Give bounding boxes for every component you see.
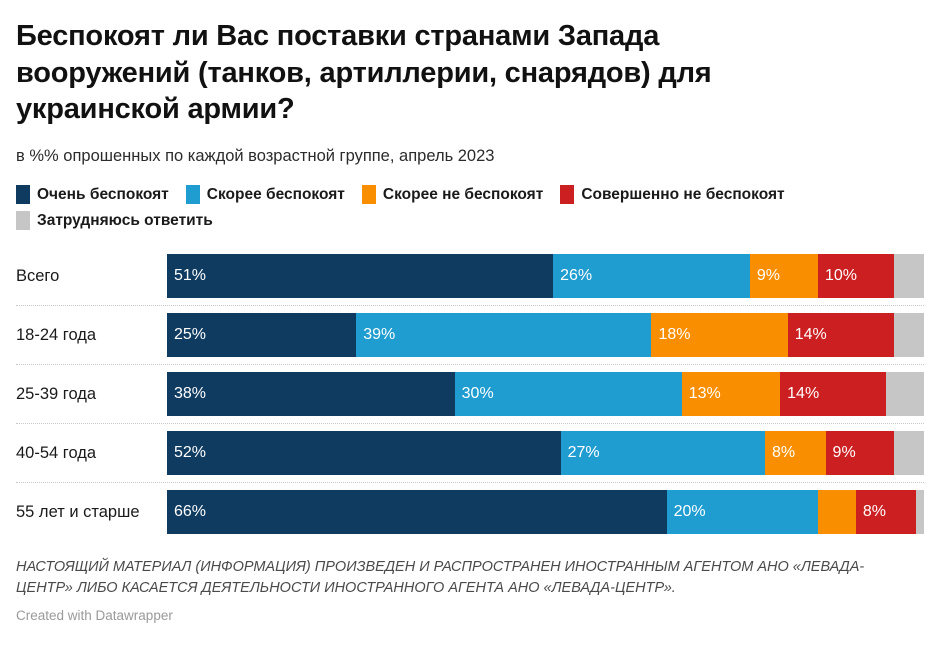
legend-item[interactable]: Скорее не беспокоят: [362, 185, 543, 204]
chart-legend: Очень беспокоятСкорее беспокоятСкорее не…: [16, 185, 916, 237]
legend-swatch-icon: [16, 211, 30, 230]
bar-segment[interactable]: 27%: [561, 431, 765, 475]
legend-item-label: Очень беспокоят: [37, 187, 169, 203]
bar-segment[interactable]: 4%: [894, 431, 924, 475]
foreign-agent-disclaimer: НАСТОЯЩИЙ МАТЕРИАЛ (ИНФОРМАЦИЯ) ПРОИЗВЕД…: [16, 557, 916, 598]
legend-swatch-icon: [560, 185, 574, 204]
chart-row-label: 25-39 года: [16, 385, 167, 404]
bar-segment[interactable]: 52%: [167, 431, 561, 475]
bar-segment[interactable]: 18%: [651, 313, 787, 357]
bar-segment-value: 39%: [363, 327, 395, 343]
bar-segment[interactable]: 8%: [856, 490, 917, 534]
bar-segment-value: 66%: [174, 504, 206, 520]
bar-segment[interactable]: 39%: [356, 313, 651, 357]
chart-row: 55 лет и старше66%20%5%8%1%: [16, 482, 924, 541]
chart-row-label: 40-54 года: [16, 444, 167, 463]
bar-segment[interactable]: 66%: [167, 490, 667, 534]
bar-segment-value: 10%: [825, 268, 857, 284]
chart-page: Беспокоят ли Вас поставки странами Запад…: [0, 0, 940, 669]
bar-segment[interactable]: 20%: [667, 490, 818, 534]
legend-item[interactable]: Очень беспокоят: [16, 185, 169, 204]
bar-segment[interactable]: 8%: [765, 431, 826, 475]
bar-segment[interactable]: 51%: [167, 254, 553, 298]
chart-footer: НАСТОЯЩИЙ МАТЕРИАЛ (ИНФОРМАЦИЯ) ПРОИЗВЕД…: [16, 557, 924, 623]
legend-swatch-icon: [16, 185, 30, 204]
datawrapper-credit: Created with Datawrapper: [16, 609, 924, 623]
chart-row-label: Всего: [16, 267, 167, 286]
bar-segment-value: 8%: [863, 504, 886, 520]
chart-row: 18-24 года25%39%18%14%4%: [16, 305, 924, 364]
legend-item[interactable]: Скорее беспокоят: [186, 185, 345, 204]
bar-segment[interactable]: 14%: [788, 313, 894, 357]
bar-segment[interactable]: 4%: [894, 313, 924, 357]
stacked-bar: 25%39%18%14%4%: [167, 313, 924, 357]
stacked-bar: 52%27%8%9%4%: [167, 431, 924, 475]
bar-segment-value: 27%: [568, 445, 600, 461]
stacked-bar: 38%30%13%14%5%: [167, 372, 924, 416]
bar-segment-value: 13%: [689, 386, 721, 402]
chart-row-label: 18-24 года: [16, 326, 167, 345]
legend-item[interactable]: Совершенно не беспокоят: [560, 185, 784, 204]
bar-segment-value: 14%: [795, 327, 827, 343]
stacked-bar: 66%20%5%8%1%: [167, 490, 924, 534]
bar-segment-value: 38%: [174, 386, 206, 402]
bar-segment-value: 20%: [674, 504, 706, 520]
bar-segment-value: 52%: [174, 445, 206, 461]
legend-item-label: Скорее беспокоят: [207, 187, 345, 203]
stacked-bar: 51%26%9%10%4%: [167, 254, 924, 298]
bar-segment[interactable]: 38%: [167, 372, 455, 416]
bar-segment[interactable]: 10%: [818, 254, 894, 298]
bar-segment-value: 51%: [174, 268, 206, 284]
stacked-bar-chart: Всего51%26%9%10%4%18-24 года25%39%18%14%…: [16, 247, 924, 541]
bar-segment[interactable]: 4%: [894, 254, 924, 298]
bar-segment[interactable]: 1%: [916, 490, 924, 534]
bar-segment[interactable]: 13%: [682, 372, 780, 416]
chart-row: 25-39 года38%30%13%14%5%: [16, 364, 924, 423]
bar-segment[interactable]: 26%: [553, 254, 750, 298]
bar-segment-value: 9%: [833, 445, 856, 461]
page-title: Беспокоят ли Вас поставки странами Запад…: [16, 18, 776, 128]
bar-segment[interactable]: 5%: [818, 490, 856, 534]
bar-segment-value: 26%: [560, 268, 592, 284]
legend-item[interactable]: Затрудняюсь ответить: [16, 211, 213, 230]
chart-row: 40-54 года52%27%8%9%4%: [16, 423, 924, 482]
legend-item-label: Затрудняюсь ответить: [37, 213, 213, 229]
legend-swatch-icon: [186, 185, 200, 204]
chart-subtitle: в %% опрошенных по каждой возрастной гру…: [16, 146, 924, 167]
bar-segment-value: 18%: [658, 327, 690, 343]
legend-item-label: Скорее не беспокоят: [383, 187, 543, 203]
bar-segment-value: 8%: [772, 445, 795, 461]
bar-segment[interactable]: 9%: [826, 431, 894, 475]
bar-segment-value: 9%: [757, 268, 780, 284]
bar-segment[interactable]: 5%: [886, 372, 924, 416]
legend-swatch-icon: [362, 185, 376, 204]
bar-segment[interactable]: 25%: [167, 313, 356, 357]
legend-item-label: Совершенно не беспокоят: [581, 187, 784, 203]
bar-segment-value: 25%: [174, 327, 206, 343]
bar-segment-value: 14%: [787, 386, 819, 402]
chart-row-label: 55 лет и старше: [16, 503, 167, 522]
bar-segment[interactable]: 9%: [750, 254, 818, 298]
chart-row: Всего51%26%9%10%4%: [16, 247, 924, 305]
bar-segment[interactable]: 14%: [780, 372, 886, 416]
bar-segment[interactable]: 30%: [455, 372, 682, 416]
bar-segment-value: 30%: [462, 386, 494, 402]
